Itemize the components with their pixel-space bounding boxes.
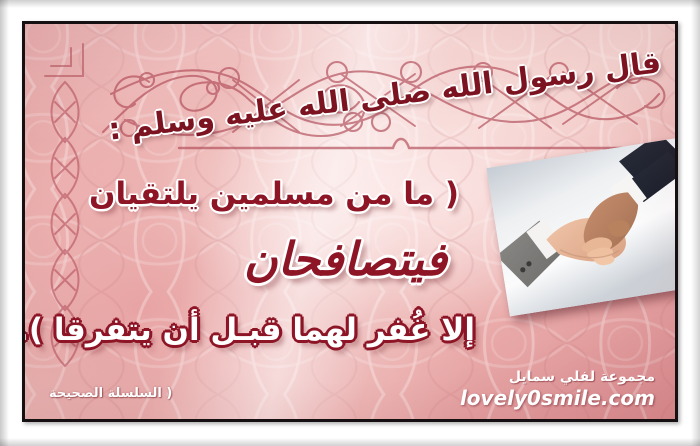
poster-frame: قال رسول الله صلى الله عليه وسلم : ( ما … [22,21,678,422]
hadith-line-2: فيتصافحان [244,232,447,286]
credit-website[interactable]: lovely0smile.com [460,387,655,409]
handshake-illustration [486,138,675,317]
handshake-photo [486,138,675,317]
hadith-line-3: إلا غُفر لهما قبـل أن يتفرقا ). [25,312,475,348]
hadith-source-label: ( السلسلة الصحيحة [49,386,172,401]
hadith-line-1: ( ما من مسلمين يلتقيان [89,176,459,212]
photo-frame [486,138,675,317]
credit-group-name: مجموعة لفلي سمايل [460,369,655,387]
credit-block: مجموعة لفلي سمايل lovely0smile.com [460,369,655,410]
poster-card: قال رسول الله صلى الله عليه وسلم : ( ما … [0,0,700,446]
poster-canvas: قال رسول الله صلى الله عليه وسلم : ( ما … [25,24,675,419]
